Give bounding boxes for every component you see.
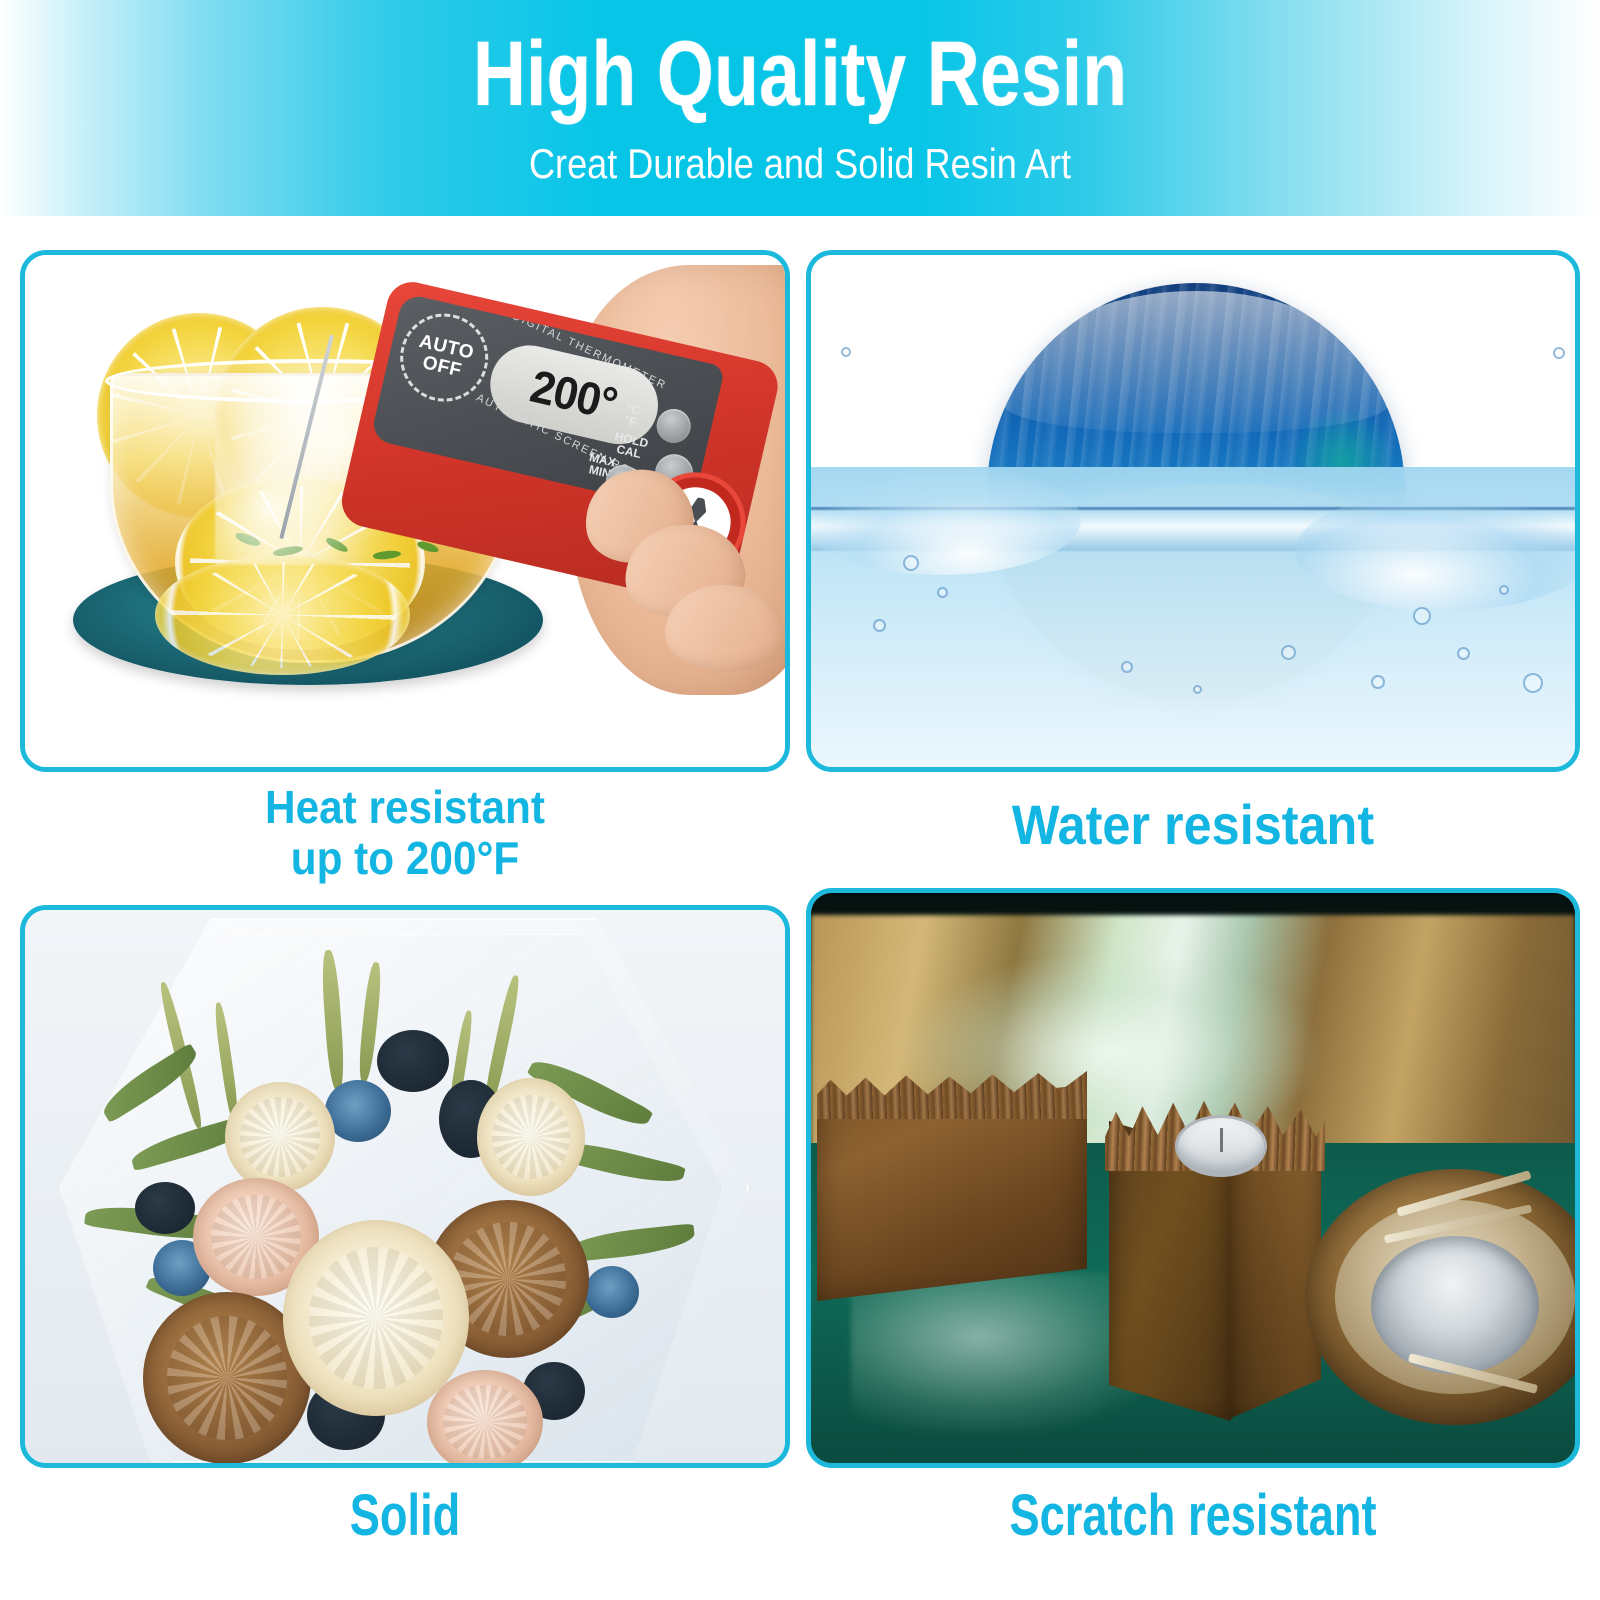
bubble-icon: [1499, 585, 1509, 595]
wood-candle-holder: [1109, 1081, 1321, 1431]
water-resistant-image: [811, 255, 1575, 767]
temperature-value: 200°: [526, 359, 623, 431]
lemon-slice-icon: [155, 555, 410, 675]
page-subtitle: Creat Durable and Solid Resin Art: [112, 140, 1488, 188]
bubble-icon: [1193, 685, 1202, 694]
rose-pink: [427, 1370, 543, 1463]
bubble-icon: [1371, 675, 1385, 689]
scratch-resistant-image: [811, 893, 1575, 1463]
bubble-icon: [1281, 645, 1296, 660]
water-splash: [1295, 491, 1575, 611]
heat-resistant-image: AUTO OFF DIGITAL THERMOMETER 200° AUTOMA…: [25, 255, 785, 767]
feature-card-heat-resistant[interactable]: AUTO OFF DIGITAL THERMOMETER 200° AUTOMA…: [20, 250, 790, 772]
bubble-icon: [1413, 607, 1431, 625]
dark-bud: [377, 1030, 449, 1092]
tealight-candle: [1175, 1115, 1267, 1177]
thistle: [585, 1266, 639, 1318]
caption-heat-resistant: Heat resistant up to 200°F: [51, 782, 759, 883]
page-title: High Quality Resin: [160, 26, 1440, 123]
caption-solid: Solid: [105, 1484, 706, 1548]
bubble-icon: [1457, 647, 1470, 660]
bubble-icon: [1553, 347, 1565, 359]
candle-wick-icon: [1220, 1128, 1223, 1152]
feature-card-solid[interactable]: [20, 905, 790, 1468]
bubble-icon: [873, 619, 886, 632]
caption-scratch-resistant: Scratch resistant: [891, 1484, 1495, 1548]
caption-water-resistant: Water resistant: [845, 794, 1542, 856]
feature-card-water-resistant[interactable]: [806, 250, 1580, 772]
rose-white: [477, 1078, 585, 1196]
bubble-icon: [1523, 673, 1543, 693]
bubble-icon: [903, 555, 919, 571]
feature-card-scratch-resistant[interactable]: [806, 888, 1580, 1468]
rose-white: [225, 1082, 335, 1192]
bubble-icon: [841, 347, 851, 357]
dark-bud: [135, 1182, 195, 1234]
solid-image: [25, 910, 785, 1463]
header-banner: High Quality Resin Creat Durable and Sol…: [0, 0, 1600, 216]
bubble-icon: [937, 587, 948, 598]
unit-toggle-button[interactable]: [653, 406, 694, 447]
water-splash: [811, 465, 1081, 575]
wood-resin-ashtray: [1305, 1169, 1575, 1425]
bubble-icon: [1121, 661, 1133, 673]
feature-grid: AUTO OFF DIGITAL THERMOMETER 200° AUTOMA…: [0, 216, 1600, 1600]
